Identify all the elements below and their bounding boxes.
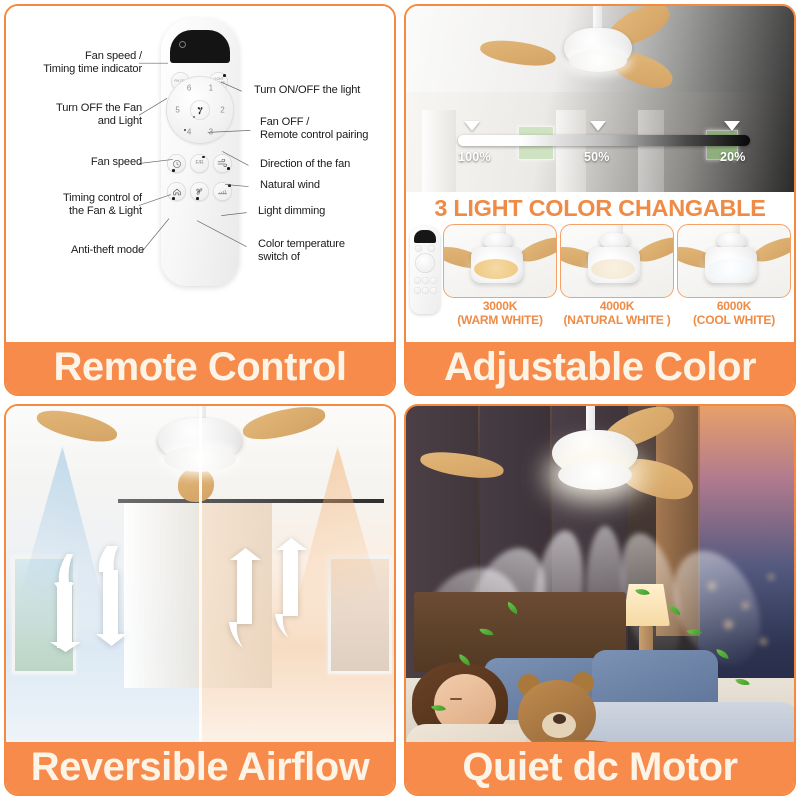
caption-quiet-dc-motor: Quiet dc Motor — [406, 742, 794, 794]
callout-color-temperature-switch: Color temperature switch of — [258, 238, 394, 265]
fan-downrod — [586, 406, 595, 430]
fan-blade-3 — [177, 467, 215, 503]
airflow-arrow-up-2 — [274, 538, 310, 638]
dial-number-1[interactable]: 1 — [209, 83, 213, 92]
direction-button[interactable]: F/R — [190, 154, 209, 173]
ceiling-fan — [406, 6, 794, 126]
swatch-label-6000k: 6000K (COOL WHITE) — [677, 300, 791, 327]
panel-reversible-airflow: Reversible Airflow — [4, 404, 396, 796]
dial-number-6[interactable]: 6 — [187, 83, 191, 92]
callout-fan-speed-timing-indicator: Fan speed / Timing time indicator — [14, 50, 142, 77]
mini-remote-icon — [410, 226, 440, 314]
remote-display — [170, 30, 230, 63]
ceiling-fan-quiet — [406, 406, 794, 536]
product-infographic: FN OFF LIGHT ON/OFF 6 1 5 2 4 3 — [0, 0, 800, 800]
callout-direction-of-fan: Direction of the fan — [260, 158, 394, 171]
remote-diagram: FN OFF LIGHT ON/OFF 6 1 5 2 4 3 — [6, 6, 394, 342]
dimming-slider[interactable]: 100% 50% 20% — [458, 135, 750, 146]
fan-speed-dial[interactable]: 6 1 5 2 4 3 — [166, 76, 234, 144]
callout-fan-speed: Fan speed — [14, 156, 142, 169]
swatch-label-4000k: 4000K (NATURAL WHITE ) — [560, 300, 674, 327]
timer-button[interactable] — [167, 154, 186, 173]
fan-off-pairing-button[interactable] — [190, 100, 210, 120]
callout-fan-off-pairing: Fan OFF / Remote control pairing — [260, 116, 394, 143]
natural-wind-button[interactable] — [213, 154, 232, 173]
callout-turn-off-fan-and-light: Turn OFF the Fan and Light — [14, 102, 142, 129]
callout-natural-wind: Natural wind — [260, 179, 394, 192]
panel-quiet-dc-motor: Quiet dc Motor — [404, 404, 796, 796]
panel-adjustable-color: 100% 50% 20% 3 LIGHT COLOR CHANGABLE — [404, 4, 796, 396]
dimming-marker-20[interactable] — [724, 121, 740, 131]
fan-blade-1 — [34, 406, 119, 448]
clock-icon — [172, 159, 182, 169]
callout-turn-on-off-light: Turn ON/OFF the light — [254, 84, 394, 97]
swatch-image-3000k — [443, 224, 557, 298]
dimming-icon — [217, 187, 228, 196]
adjustable-color-body: 100% 50% 20% 3 LIGHT COLOR CHANGABLE — [406, 6, 794, 342]
caption-reversible-airflow: Reversible Airflow — [6, 742, 394, 794]
dial-number-2[interactable]: 2 — [220, 106, 224, 115]
curtain-left-panel — [124, 502, 198, 688]
swatch-6000k: 6000K (COOL WHITE) — [677, 224, 791, 327]
dimming-label-20: 20% — [720, 150, 746, 164]
wind-icon — [217, 159, 228, 168]
bear-nose — [553, 714, 566, 724]
girl-body — [406, 724, 526, 742]
dimming-marker-100[interactable] — [464, 121, 480, 131]
airflow-arrow-up-1 — [228, 548, 264, 648]
bedroom-night-scene — [406, 406, 794, 742]
dimming-label-50: 50% — [584, 150, 610, 164]
dimming-gradient-bar[interactable] — [458, 135, 750, 146]
swatch-label-3000k: 3000K (WARM WHITE) — [443, 300, 557, 327]
airflow-scene — [6, 406, 394, 742]
caption-remote-control: Remote Control — [6, 342, 394, 394]
girl-eye — [450, 698, 462, 700]
fan-light-lens — [558, 460, 632, 490]
dimming-label-100: 100% — [458, 150, 491, 164]
dial-number-4[interactable]: 4 — [187, 128, 191, 137]
home-icon — [172, 187, 182, 197]
color-temperature-section: 3 LIGHT COLOR CHANGABLE — [406, 192, 794, 342]
room-photo-dimming: 100% 50% 20% — [406, 6, 794, 192]
natural-wind-icon — [194, 186, 205, 197]
swatch-3000k: 3000K (WARM WHITE) — [443, 224, 557, 327]
color-temperature-button[interactable] — [190, 182, 209, 201]
anti-theft-button[interactable] — [167, 182, 186, 201]
dimming-marker-50[interactable] — [590, 121, 606, 131]
remote-control-device: FN OFF LIGHT ON/OFF 6 1 5 2 4 3 — [161, 18, 239, 286]
display-indicator-icon — [179, 41, 186, 48]
fan-light-lens — [569, 50, 627, 72]
fan-blade-1 — [419, 448, 505, 483]
blanket — [566, 702, 794, 742]
fan-downrod — [593, 6, 602, 28]
callout-light-dimming: Light dimming — [258, 205, 394, 218]
airflow-split-divider — [199, 406, 202, 742]
fan-blade-2 — [479, 36, 558, 70]
dial-number-3[interactable]: 3 — [209, 128, 213, 137]
section-title-3-light-color: 3 LIGHT COLOR CHANGABLE — [406, 195, 794, 222]
callout-anti-theft-mode: Anti-theft mode — [14, 244, 144, 257]
airflow-arrow-down-1 — [48, 554, 84, 652]
callout-timing-control: Timing control of the Fan & Light — [10, 192, 142, 219]
fan-icon — [195, 105, 206, 116]
light-dimming-button[interactable] — [213, 182, 232, 201]
airflow-arrow-down-2 — [94, 546, 130, 646]
swatch-4000k: 4000K (NATURAL WHITE ) — [560, 224, 674, 327]
swatch-image-4000k — [560, 224, 674, 298]
color-swatch-row: 3000K (WARM WHITE) — [406, 222, 794, 327]
fan-blade-2 — [240, 406, 328, 444]
caption-adjustable-color: Adjustable Color — [406, 342, 794, 394]
swatch-image-6000k — [677, 224, 791, 298]
dial-number-5[interactable]: 5 — [175, 106, 179, 115]
panel-remote-control: FN OFF LIGHT ON/OFF 6 1 5 2 4 3 — [4, 4, 396, 396]
